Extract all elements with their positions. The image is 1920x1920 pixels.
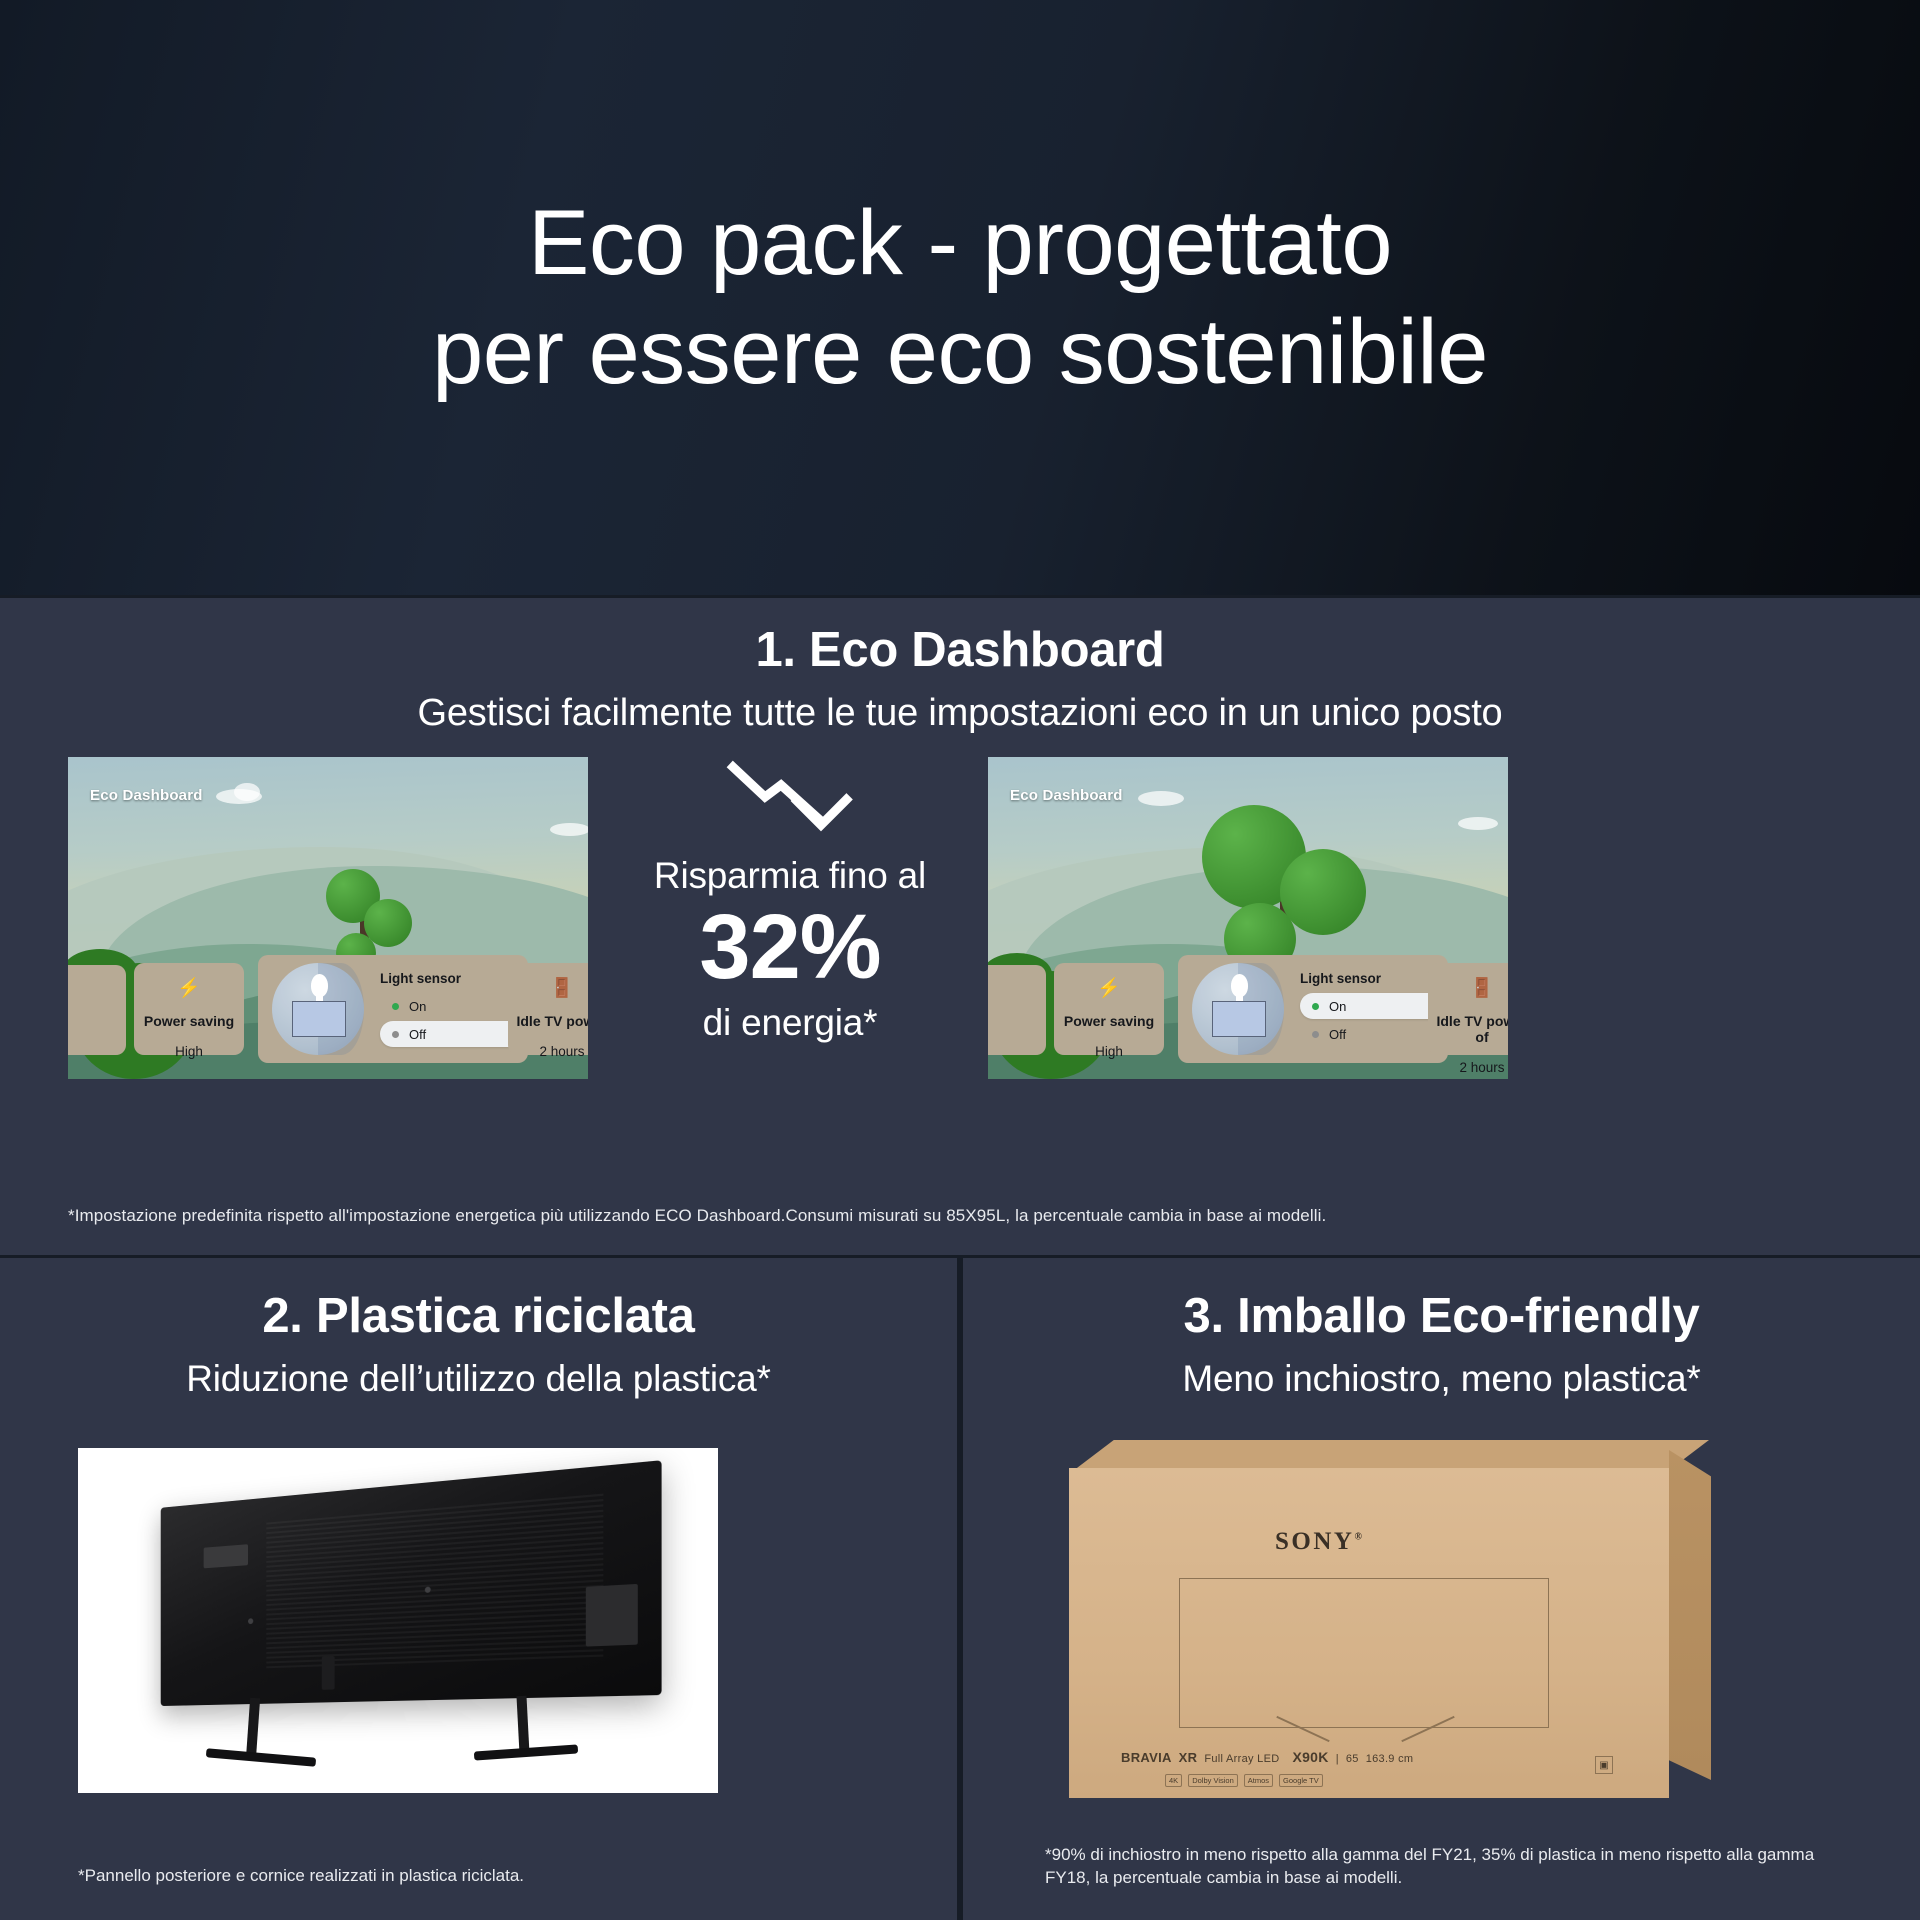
section3-subheading: Meno inchiostro, meno plastica* [963,1358,1920,1400]
page-title: Eco pack - progettato per essere eco sos… [432,189,1488,406]
section2-subheading: Riduzione dell’utilizzo della plastica* [0,1358,957,1400]
eco-dashboard-screen-before: Eco Dashboard ⚡ Power saving High [68,757,588,1079]
status-dot-off [392,1031,399,1038]
status-dot-on [392,1003,399,1010]
tv-rear-panel-photo [78,1448,718,1793]
cloud-icon [1458,817,1498,830]
eco-dashboard-screen-after: Eco Dashboard ⚡ Power saving High [988,757,1508,1079]
section1-subheading: Gestisci facilmente tutte le tue imposta… [0,692,1920,735]
eco-dashboard-card-row: ⚡ Power saving High Light sensor [68,951,588,1069]
power-saving-title: Power saving [1054,1013,1164,1029]
down-trend-arrow-icon [725,759,855,841]
recycle-mark-icon: ▣ [1595,1756,1613,1774]
tv-off-icon: 🚪 [508,979,588,998]
savings-value: 32% [620,899,960,996]
light-sensor-option-off-label: Off [1329,1027,1346,1042]
light-sensor-option-off-label: Off [409,1027,426,1042]
carton-model: X90K [1292,1749,1328,1765]
tv-rear-panel [161,1460,662,1706]
light-sensor-option-on-label: On [409,999,426,1014]
carton-badge: 4K [1165,1774,1182,1787]
tv-vent-texture [266,1493,603,1670]
light-sensor-option-on-label: On [1329,999,1346,1014]
power-saving-card[interactable]: ⚡ Power saving High [1054,963,1164,1055]
power-saving-value: High [134,1044,244,1059]
carton-side-face [1669,1450,1711,1780]
hero-title-line-2: per essere eco sostenibile [432,298,1488,407]
light-sensor-card[interactable]: Light sensor On Off [258,955,528,1063]
section-eco-packaging: 3. Imballo Eco-friendly Meno inchiostro,… [963,1255,1920,1920]
eco-dashboard-label: Eco Dashboard [90,787,203,804]
sony-logo: SONY® [1275,1528,1362,1556]
carton-front-face: SONY® BRAVIA XR Full Array LED X90K | 65… [1069,1468,1669,1798]
idle-tv-power-card[interactable]: 🚪 Idle TV power of 2 hours [1428,963,1508,1055]
section1-footnote: *Impostazione predefinita rispetto all'i… [68,1206,1326,1226]
idle-tv-power-title: Idle TV power of [1428,1013,1508,1045]
eco-carton-image: SONY® BRAVIA XR Full Array LED X90K | 65… [1069,1440,1809,1820]
eco-dashboard-label: Eco Dashboard [1010,787,1123,804]
eco-pack-infographic: Eco pack - progettato per essere eco sos… [0,0,1920,1920]
power-saving-title: Power saving [134,1013,244,1029]
carton-size-cm: 163.9 cm [1366,1753,1414,1765]
idle-tv-power-title: Idle TV power [508,1013,588,1029]
section1-body: Eco Dashboard ⚡ Power saving High [0,757,1920,1097]
status-dot-off [1312,1031,1319,1038]
cloud-icon [1138,791,1184,806]
eco-card-partial[interactable] [68,965,126,1055]
eco-card-partial[interactable] [988,965,1046,1055]
tv-stand-leg-right [516,1696,529,1754]
idle-tv-power-value: 2 hours [1428,1060,1508,1075]
carton-brand-xr: XR [1179,1750,1198,1765]
tv-connector-block [586,1584,638,1647]
light-bulb-icon [272,963,364,1055]
cloud-icon [234,783,260,801]
tree-leaf [1280,849,1366,935]
light-sensor-title: Light sensor [380,971,461,986]
light-sensor-option-on[interactable]: On [392,999,426,1014]
energy-saving-icon: ⚡ [134,979,244,998]
hero-title-line-1: Eco pack - progettato [432,189,1488,298]
light-sensor-option-off[interactable]: Off [1312,1027,1346,1042]
idle-tv-power-card[interactable]: 🚪 Idle TV power 2 hours [508,963,588,1055]
power-saving-value: High [1054,1044,1164,1059]
energy-saving-icon: ⚡ [1054,979,1164,998]
tv-stand-foot-left [206,1748,316,1767]
savings-line-2: di energia* [620,1002,960,1044]
tv-off-icon: 🚪 [1428,979,1508,998]
section-eco-dashboard: 1. Eco Dashboard Gestisci facilmente tut… [0,595,1920,1255]
section3-heading: 3. Imballo Eco-friendly [963,1288,1920,1344]
tv-screw-dot [248,1618,253,1624]
eco-dashboard-card-row: ⚡ Power saving High Light sensor [988,951,1508,1069]
light-bulb-icon [1192,963,1284,1055]
carton-badge: Dolby Vision [1188,1774,1238,1787]
savings-callout: Risparmia fino al 32% di energia* [620,745,960,1044]
section-recycled-plastic: 2. Plastica riciclata Riduzione dell’uti… [0,1255,957,1920]
carton-spec-line: BRAVIA XR Full Array LED X90K | 65 163.9… [1121,1749,1413,1765]
carton-tv-outline [1179,1578,1549,1728]
carton-badge: Google TV [1279,1774,1323,1787]
section2-heading: 2. Plastica riciclata [0,1288,957,1344]
hero-banner: Eco pack - progettato per essere eco sos… [0,0,1920,595]
carton-brand-bravia: BRAVIA [1121,1750,1172,1765]
tv-port-block [204,1545,248,1569]
carton-separator: | [1336,1753,1339,1765]
status-dot-on [1312,1003,1319,1010]
carton-badge-row: 4K Dolby Vision Atmos Google TV [1165,1774,1323,1787]
carton-size-inches: 65 [1346,1753,1359,1765]
savings-line-1: Risparmia fino al [620,855,960,897]
section2-footnote: *Pannello posteriore e cornice realizzat… [78,1866,524,1886]
cloud-icon [550,823,588,836]
idle-tv-power-value: 2 hours [508,1044,588,1059]
section3-footnote: *90% di inchiostro in meno rispetto alla… [963,1844,1920,1890]
power-saving-card[interactable]: ⚡ Power saving High [134,963,244,1055]
carton-panel-type: Full Array LED [1204,1753,1279,1765]
section1-heading: 1. Eco Dashboard [0,622,1920,678]
carton-badge: Atmos [1244,1774,1273,1787]
light-sensor-title: Light sensor [1300,971,1381,986]
tv-cable-connector [322,1656,335,1690]
light-sensor-card[interactable]: Light sensor On Off [1178,955,1448,1063]
